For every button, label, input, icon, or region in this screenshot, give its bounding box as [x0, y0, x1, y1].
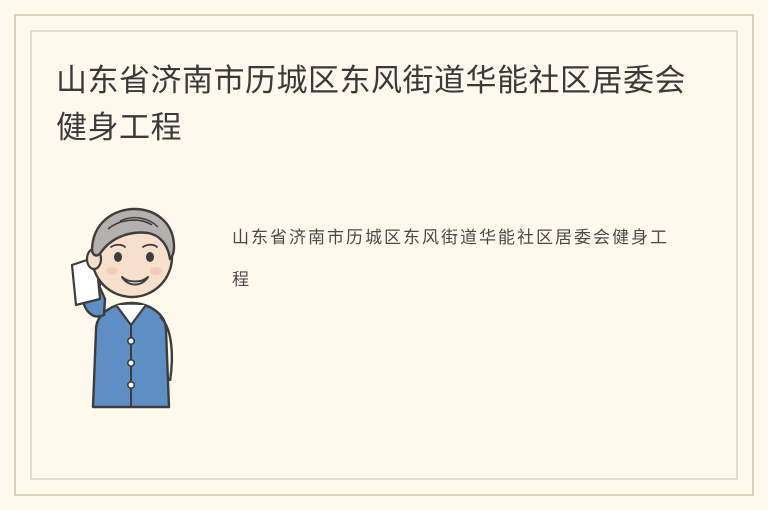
elderly-person-illustration — [56, 195, 206, 415]
page-subtitle: 山东省济南市历城区东风街道华能社区居委会健身工程 — [232, 217, 682, 301]
content-row: 山东省济南市历城区东风街道华能社区居委会健身工程 — [56, 195, 712, 425]
page-title: 山东省济南市历城区东风街道华能社区居委会健身工程 — [56, 58, 696, 152]
poster-card: 山东省济南市历城区东风街道华能社区居委会健身工程 — [0, 0, 768, 510]
